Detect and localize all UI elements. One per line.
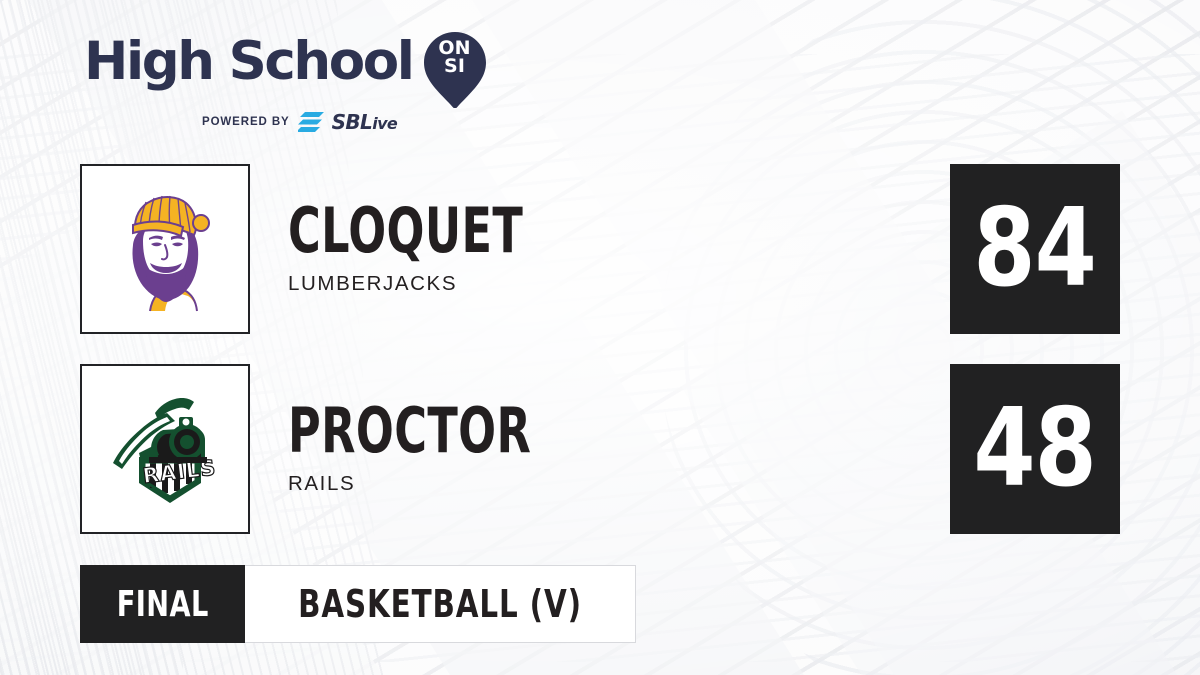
sblive-sbl: SBL <box>332 110 373 134</box>
status-final-label: FINAL <box>117 584 209 625</box>
status-sport-label: BASKETBALL (V) <box>299 582 583 626</box>
proctor-rails-logo: RAILS <box>80 364 250 534</box>
on-si-pin-icon: ON SI <box>424 32 486 108</box>
pin-line-si: SI <box>424 58 486 76</box>
on-si-pin-label: ON SI <box>424 40 486 75</box>
status-badge-final: FINAL <box>80 565 245 643</box>
scoreboard-graphic: High School ON SI POWERED BY SBLive <box>0 0 1200 675</box>
score-value: 48 <box>974 395 1097 503</box>
sblive-s-mark-icon <box>298 112 324 132</box>
status-sport: BASKETBALL (V) <box>245 565 636 643</box>
score-value: 84 <box>974 195 1097 303</box>
team-name: CLOQUET <box>288 202 523 260</box>
score-box-proctor: 48 <box>950 364 1120 534</box>
team-mascot: RAILS <box>288 472 592 496</box>
team-name: PROCTOR <box>288 402 531 460</box>
sblive-ive: ive <box>372 114 397 133</box>
team-row-cloquet: CLOQUET LUMBERJACKS <box>80 164 582 334</box>
team-row-proctor: RAILS PROCTOR RAILS <box>80 364 592 534</box>
sblive-wordmark: SBLive <box>332 110 398 134</box>
cloquet-lumberjacks-logo <box>80 164 250 334</box>
powered-by-row: POWERED BY SBLive <box>202 110 486 134</box>
status-bar: FINAL BASKETBALL (V) <box>80 565 636 643</box>
proctor-text-block: PROCTOR RAILS <box>288 402 592 495</box>
powered-by-label: POWERED BY <box>202 116 290 128</box>
brand-header: High School ON SI POWERED BY SBLive <box>84 36 486 134</box>
cloquet-text-block: CLOQUET LUMBERJACKS <box>288 202 582 295</box>
team-mascot: LUMBERJACKS <box>288 272 582 296</box>
brand-title: High School <box>84 36 413 87</box>
score-box-cloquet: 84 <box>950 164 1120 334</box>
